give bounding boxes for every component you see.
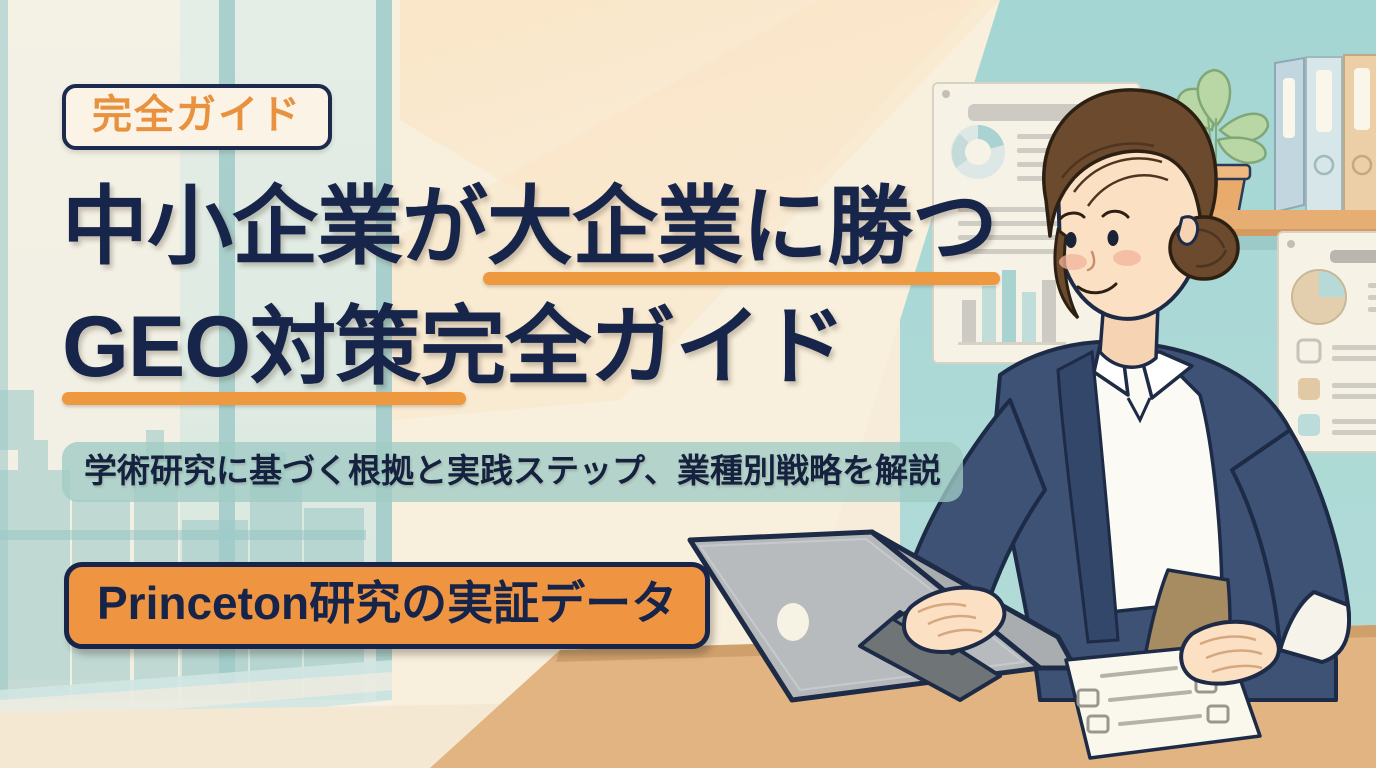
- binder-stack: [1275, 55, 1376, 212]
- headline-line-2: GEO対策完全ガイド: [62, 304, 845, 390]
- subtitle-pill: 学術研究に基づく根拠と実践ステップ、業種別戦略を解説: [62, 442, 963, 502]
- headline-line-1: 中小企業が大企業に勝つ: [62, 184, 997, 270]
- banner-canvas: 完全ガイド 中小企業が大企業に勝つ GEO対策完全ガイド 学術研究に基づく根拠と…: [0, 0, 1376, 768]
- evidence-cta-pill[interactable]: Princeton研究の実証データ: [64, 562, 710, 649]
- headline-underline-1: [483, 272, 1000, 285]
- wall-poster-pie-checklist: [1278, 232, 1376, 452]
- guide-badge: 完全ガイド: [62, 84, 332, 150]
- headline-underline-2: [62, 392, 466, 405]
